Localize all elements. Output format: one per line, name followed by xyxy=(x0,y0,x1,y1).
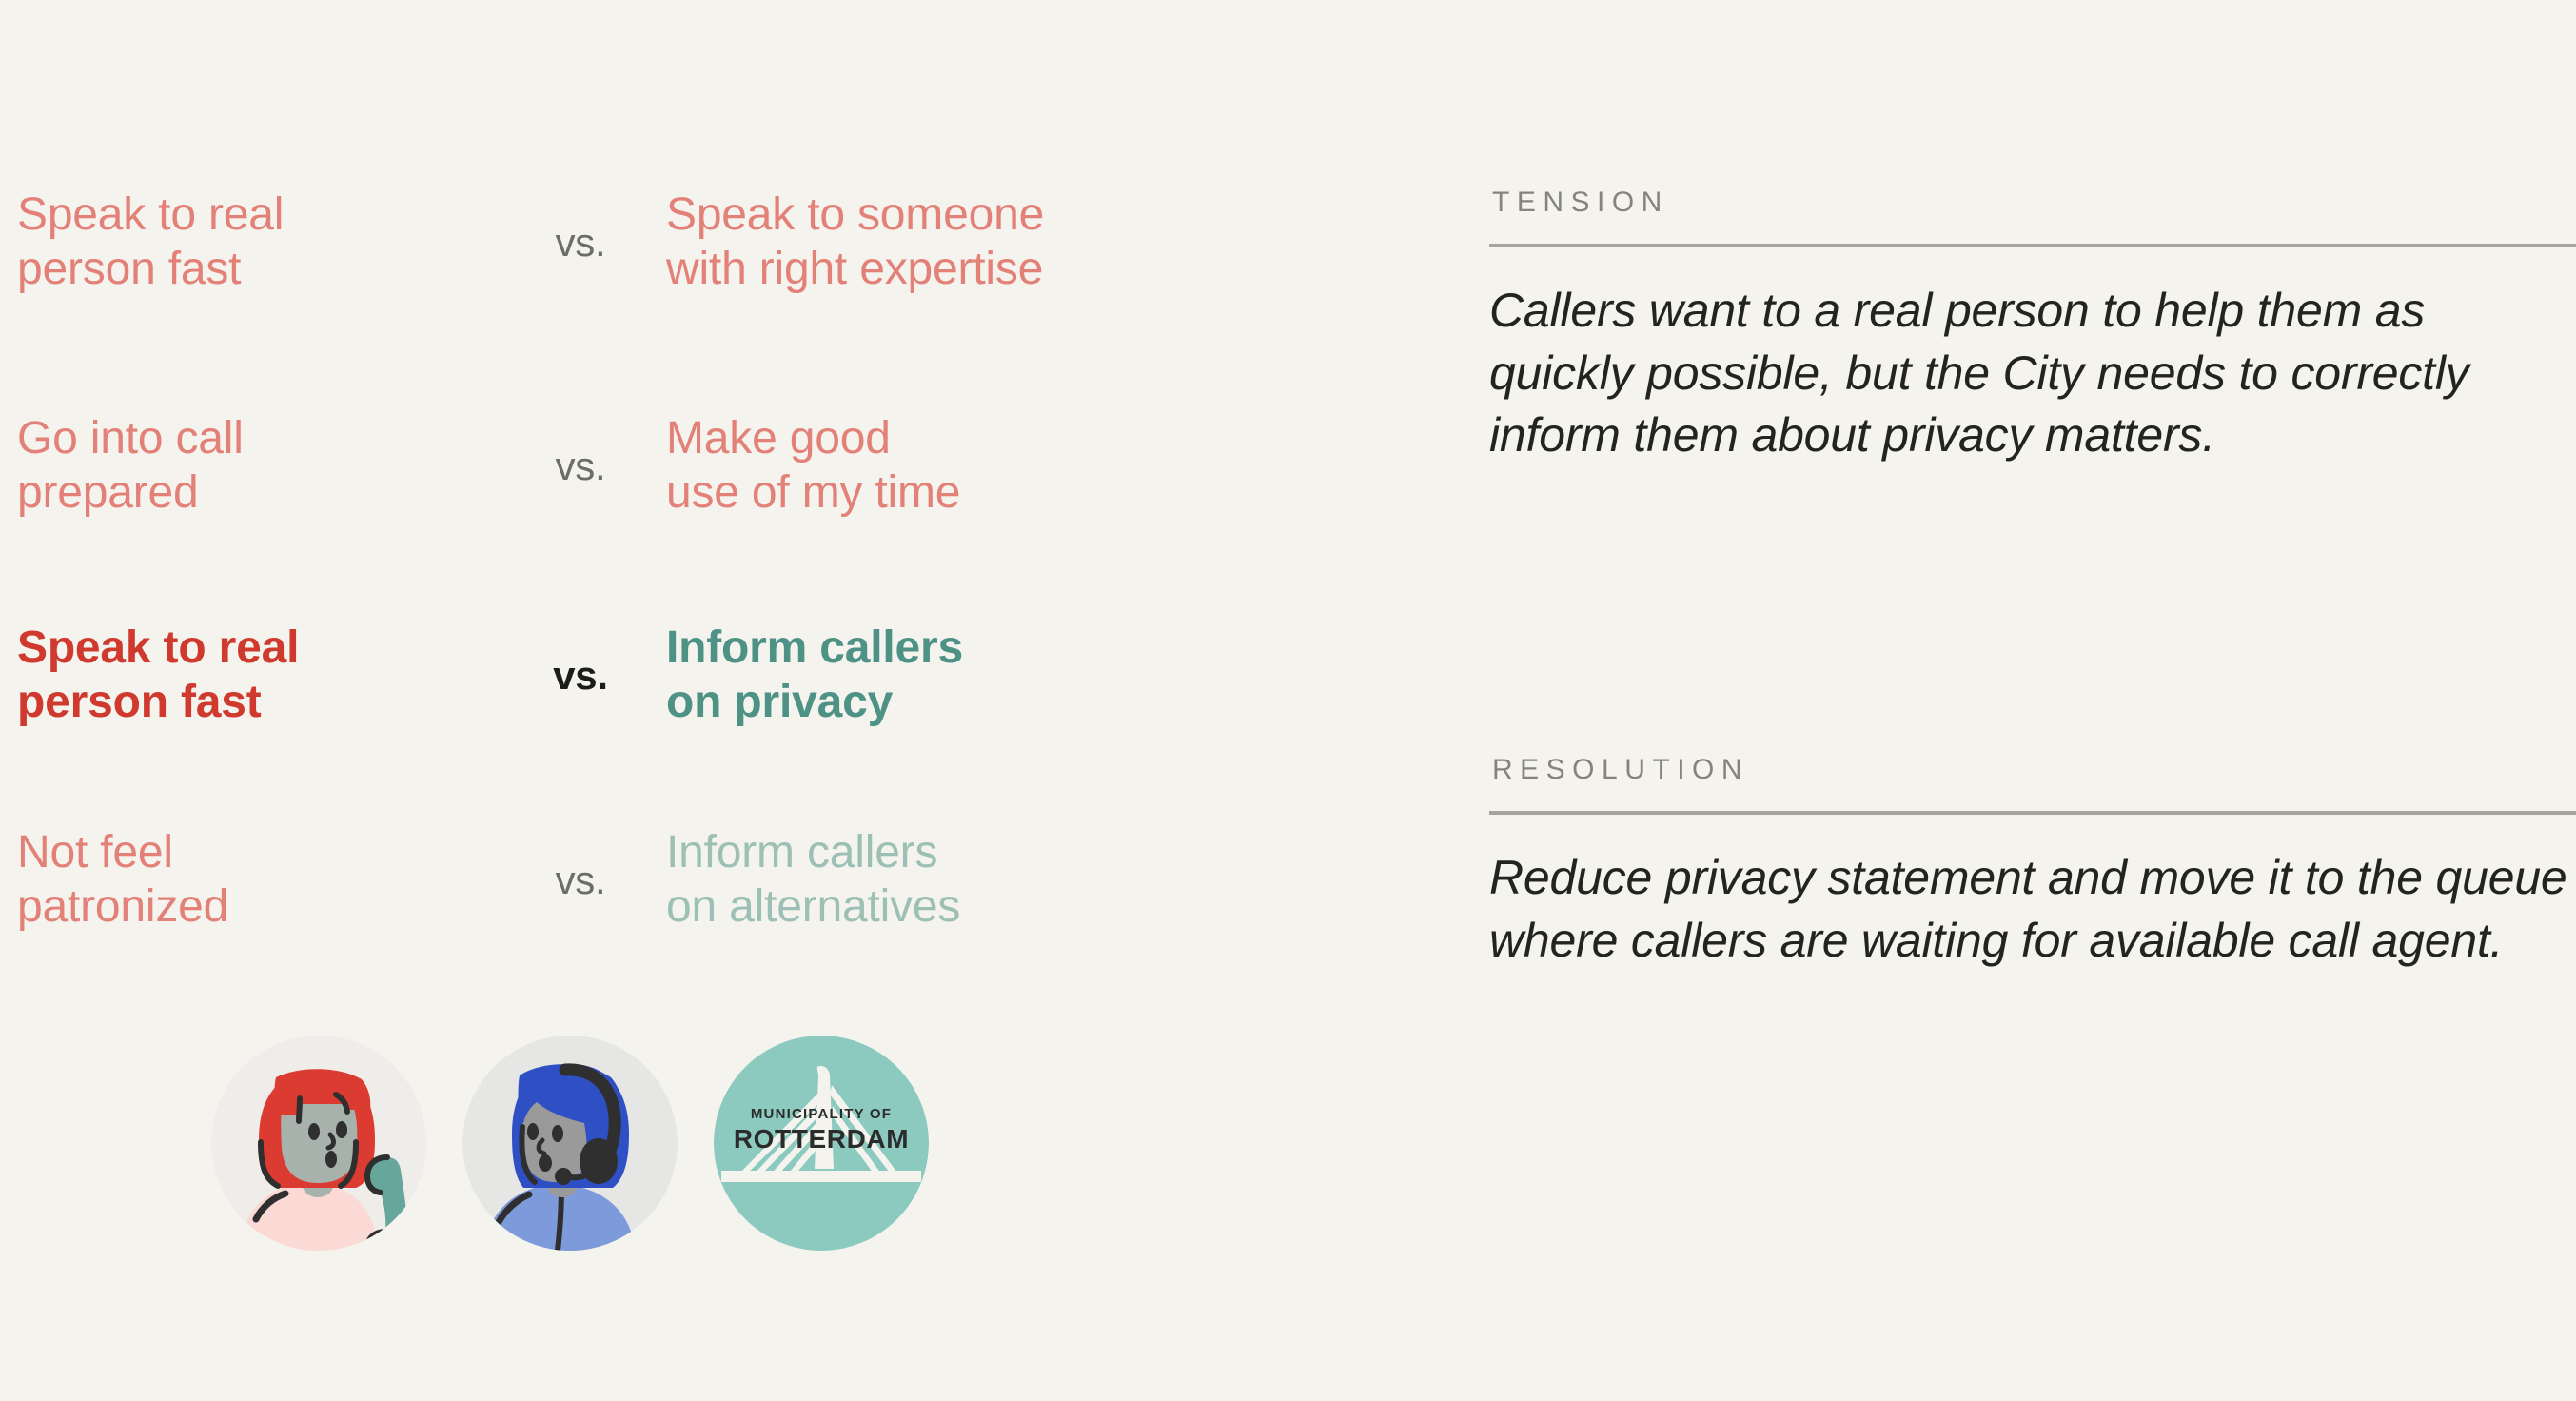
pair-row: Not feel patronized vs. Inform callers o… xyxy=(0,819,1408,942)
pair-vs-label: vs. xyxy=(495,444,666,489)
persona-avatar-row: MUNICIPALITY OF ROTTERDAM xyxy=(211,1036,929,1251)
pair-right-text: Inform callers on alternatives xyxy=(666,826,1408,934)
pair-left-text: Not feel patronized xyxy=(0,826,495,934)
pair-left-text: Speak to real person fast xyxy=(0,188,495,296)
logo-line-1: MUNICIPALITY OF xyxy=(751,1106,892,1122)
logo-line-2: ROTTERDAM xyxy=(734,1124,909,1154)
pair-left-text: Go into call prepared xyxy=(0,412,495,520)
call-agent-avatar xyxy=(462,1036,678,1251)
resolution-label: RESOLUTION xyxy=(1489,754,2576,786)
tension-label: TENSION xyxy=(1489,187,2576,219)
pair-row: Go into call prepared vs. Make good use … xyxy=(0,405,1408,528)
insight-panel: TENSION Callers want to a real person to… xyxy=(1489,0,2576,1401)
pair-vs-label: vs. xyxy=(495,858,666,903)
pair-left-text: Speak to real person fast xyxy=(0,622,495,729)
pair-right-text: Inform callers on privacy xyxy=(666,622,1408,729)
pair-right-text: Speak to someone with right expertise xyxy=(666,188,1408,296)
pair-row-highlighted: Speak to real person fast vs. Inform cal… xyxy=(0,614,1408,738)
resolution-block: RESOLUTION Reduce privacy statement and … xyxy=(1489,754,2576,972)
tension-divider xyxy=(1489,244,2576,247)
resolution-body: Reduce privacy statement and move it to … xyxy=(1489,847,2574,972)
pair-right-text: Make good use of my time xyxy=(666,412,1408,520)
municipality-of-rotterdam-logo: MUNICIPALITY OF ROTTERDAM xyxy=(714,1036,929,1251)
pair-vs-label: vs. xyxy=(495,220,666,266)
pair-row: Speak to real person fast vs. Speak to s… xyxy=(0,181,1408,305)
tension-block: TENSION Callers want to a real person to… xyxy=(1489,187,2576,467)
slide-canvas: Speak to real person fast vs. Speak to s… xyxy=(0,0,2576,1401)
caller-avatar xyxy=(211,1036,426,1251)
resolution-divider xyxy=(1489,811,2576,815)
tension-body: Callers want to a real person to help th… xyxy=(1489,280,2574,467)
pair-vs-label: vs. xyxy=(495,653,666,699)
